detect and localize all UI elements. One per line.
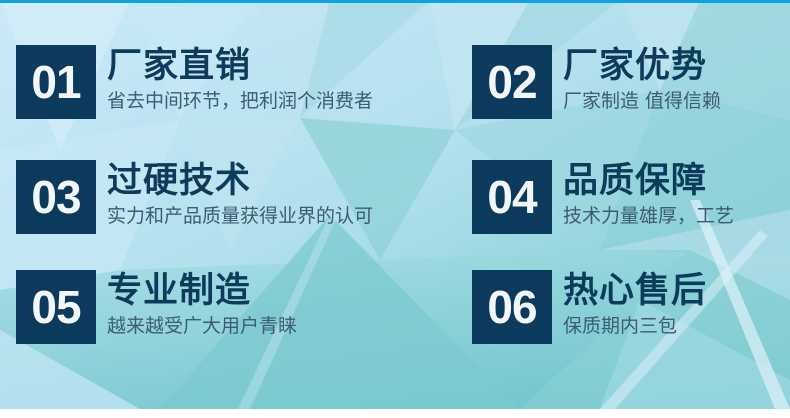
feature-title: 厂家直销	[107, 46, 373, 86]
feature-grid: 01 厂家直销 省去中间环节，把利润个消费者 02 厂家优势 厂家制造 值得信赖…	[0, 0, 790, 418]
feature-title: 专业制造	[107, 271, 297, 311]
feature-item-01: 01 厂家直销 省去中间环节，把利润个消费者	[16, 45, 373, 119]
feature-item-05: 05 专业制造 越来越受广大用户青睐	[16, 270, 297, 344]
feature-text-block: 热心售后 保质期内三包	[563, 270, 707, 339]
feature-subtitle: 省去中间环节，把利润个消费者	[107, 88, 373, 114]
feature-text-block: 过硬技术 实力和产品质量获得业界的认可	[107, 160, 373, 229]
feature-number-badge: 02	[472, 45, 552, 119]
top-accent-rule	[0, 0, 790, 3]
bottom-white-strip	[0, 409, 790, 418]
feature-item-02: 02 厂家优势 厂家制造 值得信赖	[472, 45, 721, 119]
feature-subtitle: 厂家制造 值得信赖	[563, 88, 721, 114]
feature-text-block: 厂家直销 省去中间环节，把利润个消费者	[107, 45, 373, 114]
feature-item-03: 03 过硬技术 实力和产品质量获得业界的认可	[16, 160, 373, 234]
feature-text-block: 厂家优势 厂家制造 值得信赖	[563, 45, 721, 114]
feature-number-badge: 06	[472, 270, 552, 344]
feature-item-04: 04 品质保障 技术力量雄厚，工艺	[472, 160, 734, 234]
feature-title: 厂家优势	[563, 46, 721, 86]
feature-title: 热心售后	[563, 271, 707, 311]
feature-title: 品质保障	[563, 161, 734, 201]
feature-subtitle: 保质期内三包	[563, 313, 707, 339]
feature-subtitle: 实力和产品质量获得业界的认可	[107, 203, 373, 229]
feature-item-06: 06 热心售后 保质期内三包	[472, 270, 707, 344]
feature-number-badge: 01	[16, 45, 96, 119]
feature-number-badge: 04	[472, 160, 552, 234]
feature-subtitle: 技术力量雄厚，工艺	[563, 203, 734, 229]
promo-banner: 01 厂家直销 省去中间环节，把利润个消费者 02 厂家优势 厂家制造 值得信赖…	[0, 0, 790, 418]
feature-number-badge: 05	[16, 270, 96, 344]
feature-text-block: 品质保障 技术力量雄厚，工艺	[563, 160, 734, 229]
feature-number-badge: 03	[16, 160, 96, 234]
feature-subtitle: 越来越受广大用户青睐	[107, 313, 297, 339]
feature-text-block: 专业制造 越来越受广大用户青睐	[107, 270, 297, 339]
feature-title: 过硬技术	[107, 161, 373, 201]
